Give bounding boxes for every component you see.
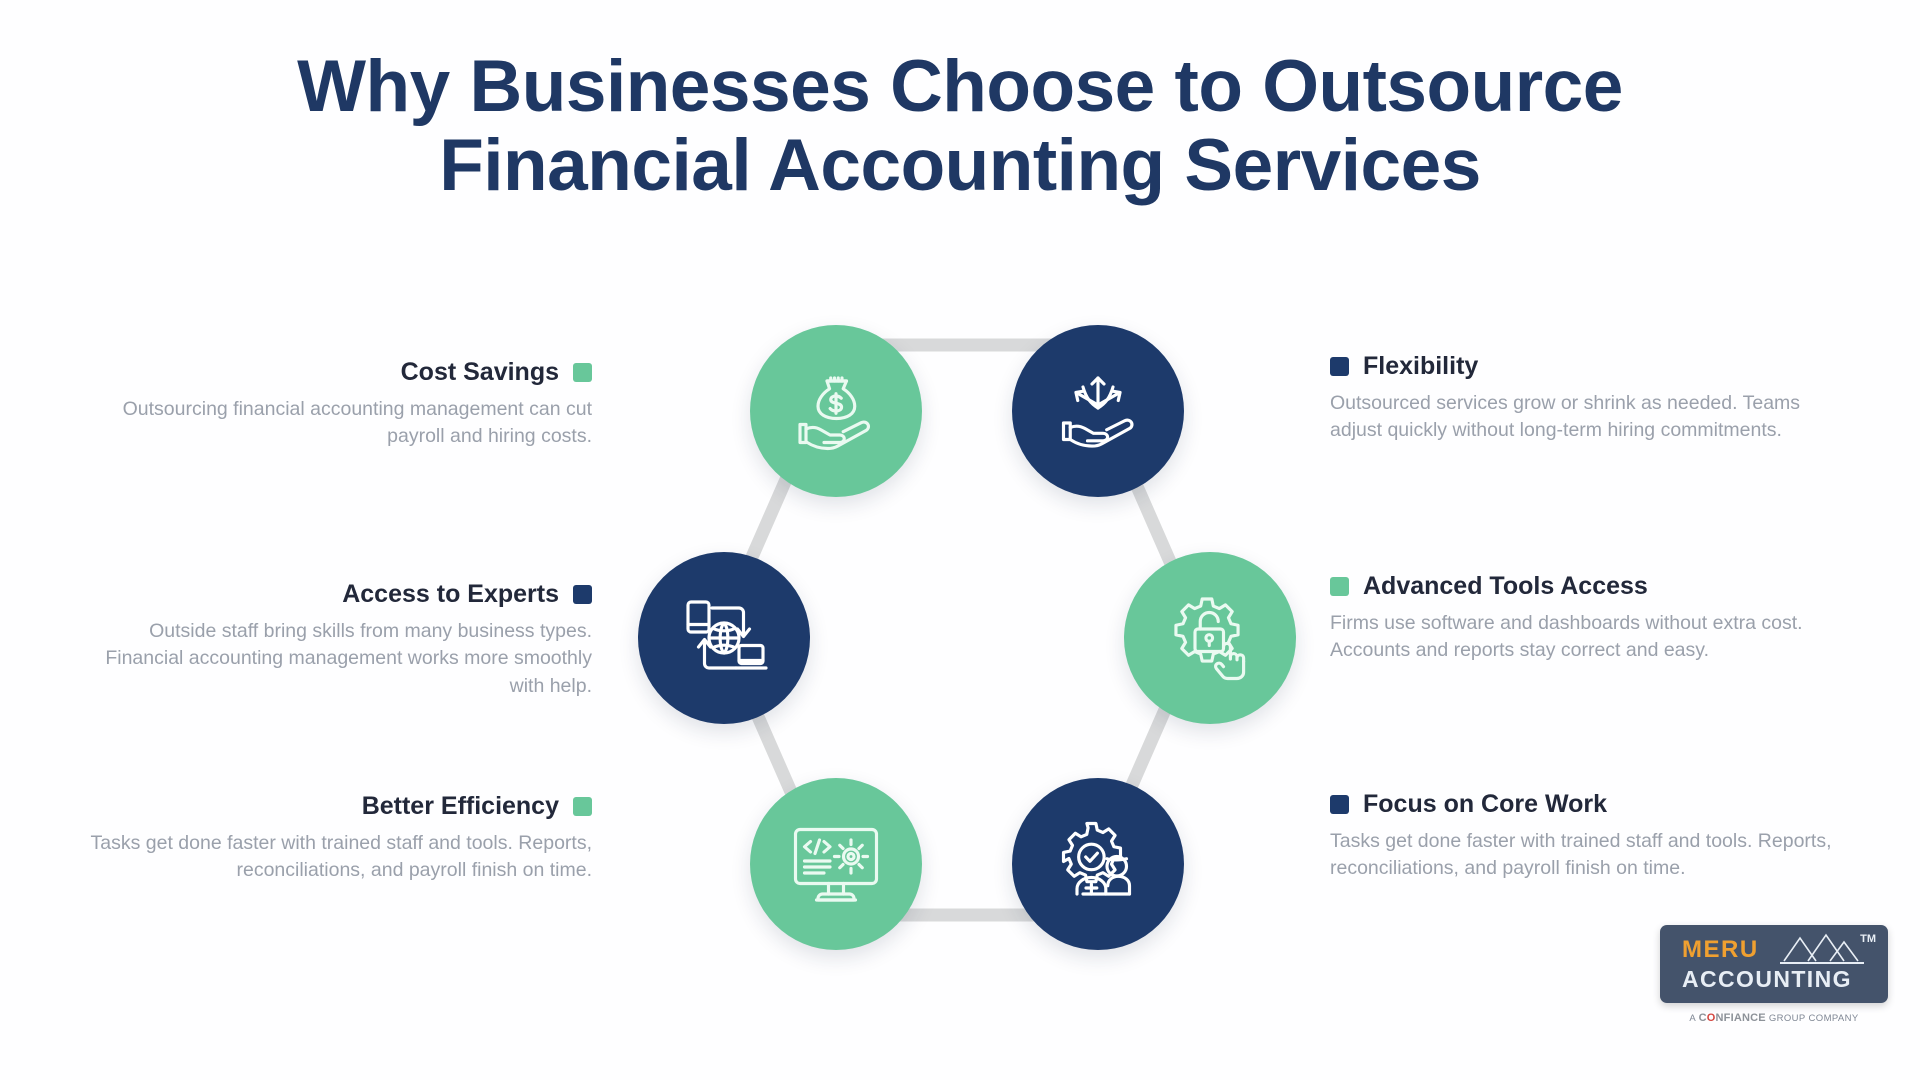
- node-flexibility[interactable]: [1012, 325, 1184, 497]
- feature-marker-swatch: [1330, 357, 1349, 376]
- logo-tagline-prefix: A: [1689, 1013, 1698, 1024]
- logo-brand-secondary: ACCOUNTING: [1682, 966, 1852, 993]
- page-title-line-2: Financial Accounting Services: [0, 127, 1920, 206]
- feature-block-better-efficiency: Better Efficiency Tasks get done faster …: [80, 792, 592, 885]
- logo-tagline-brand-part-2: NFIANCE: [1716, 1012, 1766, 1024]
- logo-tagline: A CONFIANCE GROUP COMPANY: [1660, 1012, 1888, 1024]
- feature-marker-swatch: [1330, 795, 1349, 814]
- logo-tagline-brand-part-1: C: [1699, 1012, 1707, 1024]
- feature-heading: Access to Experts: [80, 580, 592, 609]
- feature-title: Advanced Tools Access: [1363, 572, 1648, 601]
- feature-heading: Flexibility: [1330, 352, 1840, 381]
- gear-team-check-icon: [1050, 816, 1146, 912]
- hand-holding-arrows-icon: [1050, 363, 1146, 459]
- node-focus-on-core-work[interactable]: [1012, 778, 1184, 950]
- feature-marker-swatch: [573, 797, 592, 816]
- feature-block-flexibility: Flexibility Outsourced services grow or …: [1330, 352, 1840, 445]
- logo-trademark: TM: [1860, 933, 1876, 945]
- page-title: Why Businesses Choose to Outsource Finan…: [0, 48, 1920, 206]
- page-title-line-1: Why Businesses Choose to Outsource: [0, 48, 1920, 127]
- feature-description: Firms use software and dashboards withou…: [1330, 610, 1840, 665]
- gear-lock-click-icon: [1162, 590, 1258, 686]
- feature-heading: Focus on Core Work: [1330, 790, 1840, 819]
- feature-title: Better Efficiency: [362, 792, 559, 821]
- brand-logo[interactable]: MERU ACCOUNTING TM A CONFIANCE GROUP COM…: [1660, 925, 1888, 1024]
- infographic-canvas: Why Businesses Choose to Outsource Finan…: [0, 0, 1920, 1080]
- feature-heading: Better Efficiency: [80, 792, 592, 821]
- logo-card: MERU ACCOUNTING TM: [1660, 925, 1888, 1003]
- feature-title: Access to Experts: [342, 580, 559, 609]
- node-cost-savings[interactable]: [750, 325, 922, 497]
- feature-description: Outside staff bring skills from many bus…: [80, 618, 592, 701]
- feature-title: Focus on Core Work: [1363, 790, 1607, 819]
- feature-block-focus-on-core-work: Focus on Core Work Tasks get done faster…: [1330, 790, 1840, 883]
- monitor-code-gear-icon: [788, 816, 884, 912]
- feature-marker-swatch: [573, 585, 592, 604]
- logo-tagline-brand: CONFIANCE: [1699, 1012, 1766, 1024]
- feature-block-access-to-experts: Access to Experts Outside staff bring sk…: [80, 580, 592, 701]
- node-better-efficiency[interactable]: [750, 778, 922, 950]
- global-device-exchange-icon: [676, 590, 772, 686]
- feature-description: Outsourcing financial accounting managem…: [80, 396, 592, 451]
- feature-heading: Advanced Tools Access: [1330, 572, 1840, 601]
- node-access-to-experts[interactable]: [638, 552, 810, 724]
- feature-block-advanced-tools-access: Advanced Tools Access Firms use software…: [1330, 572, 1840, 665]
- feature-title: Cost Savings: [401, 358, 559, 387]
- logo-tagline-suffix: GROUP COMPANY: [1766, 1013, 1859, 1024]
- node-advanced-tools-access[interactable]: [1124, 552, 1296, 724]
- feature-title: Flexibility: [1363, 352, 1478, 381]
- feature-heading: Cost Savings: [80, 358, 592, 387]
- feature-marker-swatch: [1330, 577, 1349, 596]
- logo-brand-primary: MERU: [1682, 936, 1759, 964]
- logo-tagline-brand-o: O: [1707, 1012, 1716, 1024]
- feature-description: Outsourced services grow or shrink as ne…: [1330, 390, 1840, 445]
- hand-holding-money-bag-icon: [788, 363, 884, 459]
- mountain-peaks-icon: [1778, 933, 1870, 967]
- feature-description: Tasks get done faster with trained staff…: [80, 830, 592, 885]
- feature-marker-swatch: [573, 363, 592, 382]
- feature-description: Tasks get done faster with trained staff…: [1330, 828, 1840, 883]
- feature-block-cost-savings: Cost Savings Outsourcing financial accou…: [80, 358, 592, 451]
